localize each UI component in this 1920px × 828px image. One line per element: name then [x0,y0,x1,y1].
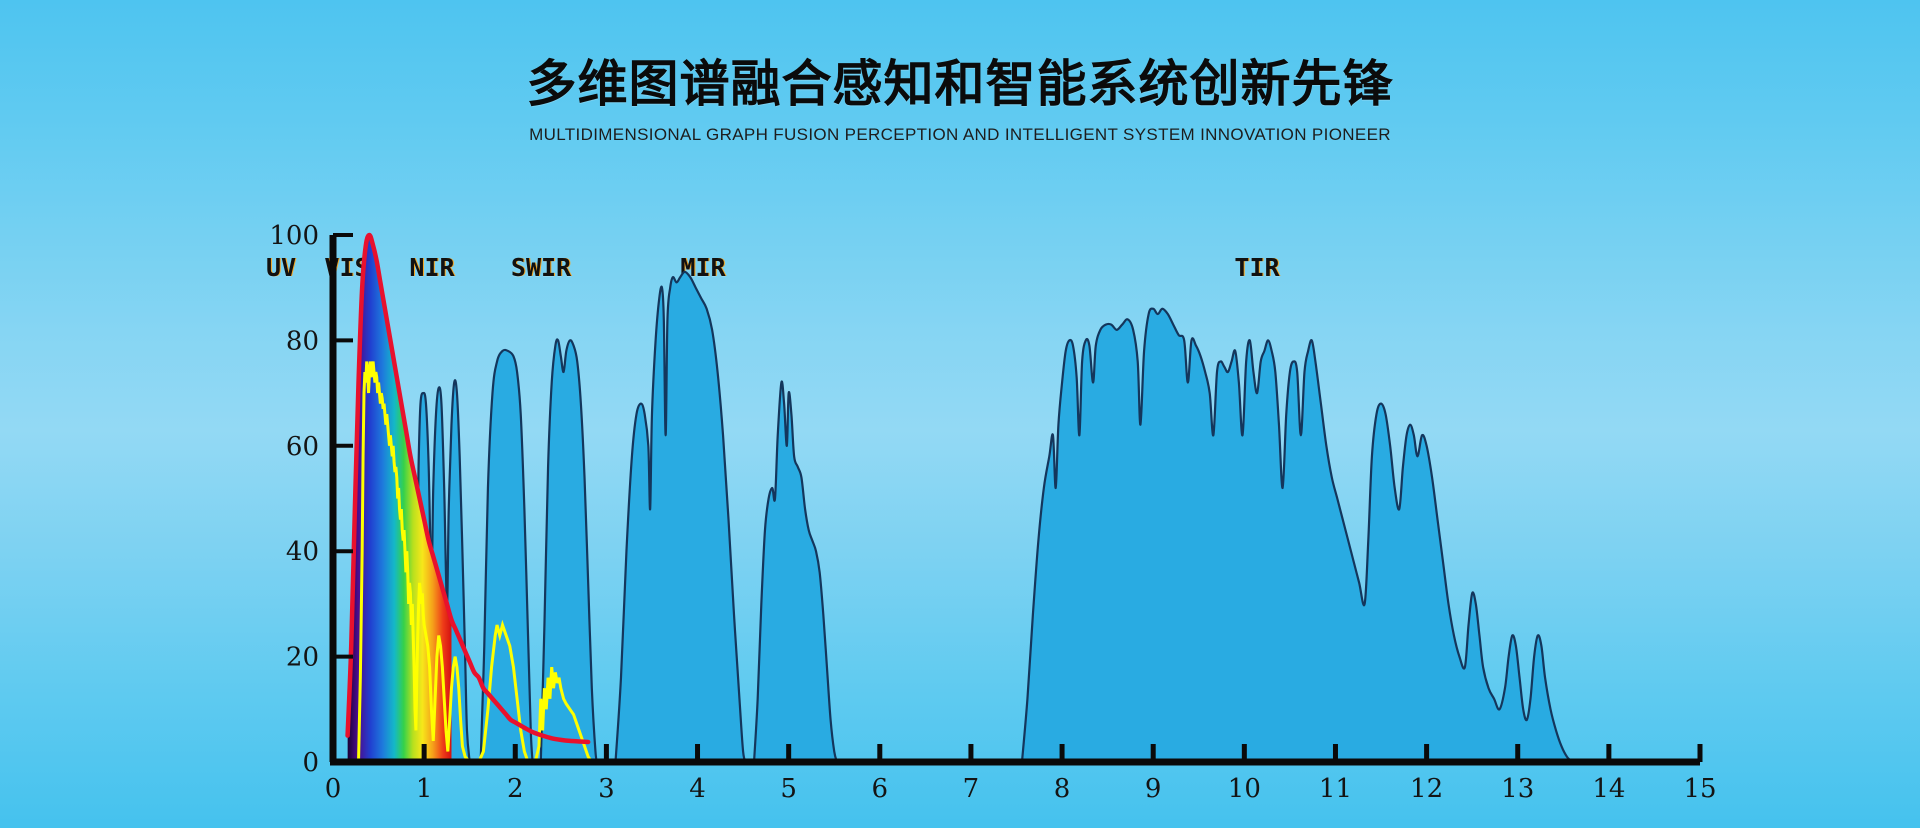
x-tick-label-14: 14 [1592,774,1625,804]
x-tick-label-2: 2 [507,774,524,804]
x-tick-label-15: 15 [1683,774,1716,804]
y-tick-label-100: 100 [269,221,319,251]
y-tick-label-80: 80 [286,326,319,356]
spectrum-chart: 0123456789101112131415 020406080100 [0,0,1920,828]
x-tick-label-8: 8 [1054,774,1071,804]
x-tick-label-5: 5 [780,774,797,804]
spectrum-chart-svg: 0123456789101112131415 020406080100 [0,0,1920,828]
x-tick-label-7: 7 [963,774,980,804]
x-tick-label-1: 1 [416,774,433,804]
x-axis-tick-labels: 0123456789101112131415 [325,774,1717,804]
x-tick-label-0: 0 [325,774,342,804]
x-tick-label-4: 4 [689,774,706,804]
x-tick-label-11: 11 [1319,774,1352,804]
x-tick-label-9: 9 [1145,774,1162,804]
y-tick-label-20: 20 [286,643,319,673]
y-tick-label-40: 40 [286,537,319,567]
x-tick-label-12: 12 [1410,774,1443,804]
y-tick-label-0: 0 [302,748,319,778]
x-tick-label-6: 6 [872,774,889,804]
y-tick-label-60: 60 [286,432,319,462]
y-axis-tick-labels: 020406080100 [269,221,319,778]
atmospheric-transmission-bands [353,272,1572,762]
x-tick-label-10: 10 [1228,774,1261,804]
chart-axes [330,235,1700,762]
x-tick-label-13: 13 [1501,774,1534,804]
transmission-area [353,272,1572,762]
x-tick-label-3: 3 [598,774,615,804]
